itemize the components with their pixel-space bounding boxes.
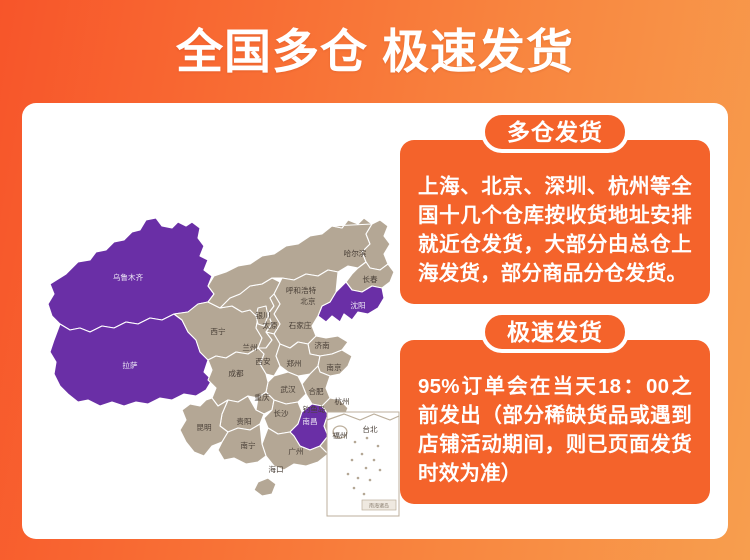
label-kunming: 昆明 (196, 423, 212, 432)
label-taipei: 台北 (362, 424, 378, 434)
label-haikou: 海口 (268, 464, 283, 474)
panel-body-jisu: 95%订单会在当天18：00之前发出（部分稀缺货品或遇到店铺活动期间，则已页面发… (400, 340, 710, 504)
label-guiyang: 贵阳 (236, 416, 251, 426)
label-hohhot: 呼和浩特 (286, 285, 317, 295)
label-chongqing: 重庆 (254, 392, 270, 402)
panel-body-duocang: 上海、北京、深圳、杭州等全国十几个仓库按收货地址安排就近仓发货，大部分由总仓上海… (400, 140, 710, 304)
label-xian: 西安 (255, 356, 271, 366)
label-xining: 西宁 (210, 326, 226, 336)
label-zhengzhou: 郑州 (286, 358, 301, 368)
panel-text-jisu: 95%订单会在当天18：00之前发出（部分稀缺货品或遇到店铺活动期间，则已页面发… (418, 372, 692, 488)
label-diaoyu-island: 钓鱼岛 (303, 404, 326, 414)
label-chengdu: 成都 (228, 368, 244, 378)
label-hangzhou: 杭州 (334, 396, 349, 406)
label-fuzhou: 福州 (332, 431, 347, 440)
label-wuhan: 武汉 (280, 384, 296, 394)
page-title: 全国多仓 极速发货 (176, 28, 574, 75)
label-changchun: 长春 (362, 274, 378, 284)
label-nanjing: 南京 (326, 362, 342, 372)
banner-header: 全国多仓 极速发货 (0, 0, 750, 103)
label-yinchuan: 银川 (255, 310, 270, 320)
panel-badge-duocang: 多仓发货 (481, 111, 629, 153)
label-guangzhou: 广州 (288, 446, 303, 456)
china-map-svg: 南海诸岛 乌鲁木齐 拉萨 西宁 兰州 银川 呼和浩特 哈尔滨 长春 沈阳 北京 … (22, 198, 412, 548)
promo-banner: 全国多仓 极速发货 (0, 0, 750, 560)
label-nanchang: 南昌 (302, 416, 317, 426)
label-nanning: 南宁 (240, 440, 256, 450)
inset-caption: 南海诸岛 (369, 503, 389, 510)
label-shenyang: 沈阳 (350, 300, 365, 310)
label-changsha: 长沙 (273, 408, 289, 418)
panel-text-duocang: 上海、北京、深圳、杭州等全国十几个仓库按收货地址安排就近仓发货，大部分由总仓上海… (418, 172, 692, 288)
china-map: 南海诸岛 乌鲁木齐 拉萨 西宁 兰州 银川 呼和浩特 哈尔滨 长春 沈阳 北京 … (22, 198, 412, 548)
label-beijing: 北京 (300, 296, 316, 306)
label-shijiazhuang: 石家庄 (289, 320, 312, 330)
province-hainan (254, 478, 276, 496)
panel-badge-jisu: 极速发货 (481, 311, 629, 353)
label-lhasa: 拉萨 (122, 360, 138, 370)
panel-badge-label-jisu: 极速发货 (507, 321, 603, 344)
panel-badge-label-duocang: 多仓发货 (507, 121, 603, 144)
label-hefei: 合肥 (308, 386, 324, 396)
content-card: 南海诸岛 乌鲁木齐 拉萨 西宁 兰州 银川 呼和浩特 哈尔滨 长春 沈阳 北京 … (22, 103, 728, 539)
label-urumqi: 乌鲁木齐 (113, 272, 144, 282)
label-harbin: 哈尔滨 (344, 248, 367, 258)
label-lanzhou: 兰州 (242, 342, 257, 352)
label-taiyuan: 太原 (262, 320, 278, 330)
label-jinan: 济南 (314, 340, 330, 350)
